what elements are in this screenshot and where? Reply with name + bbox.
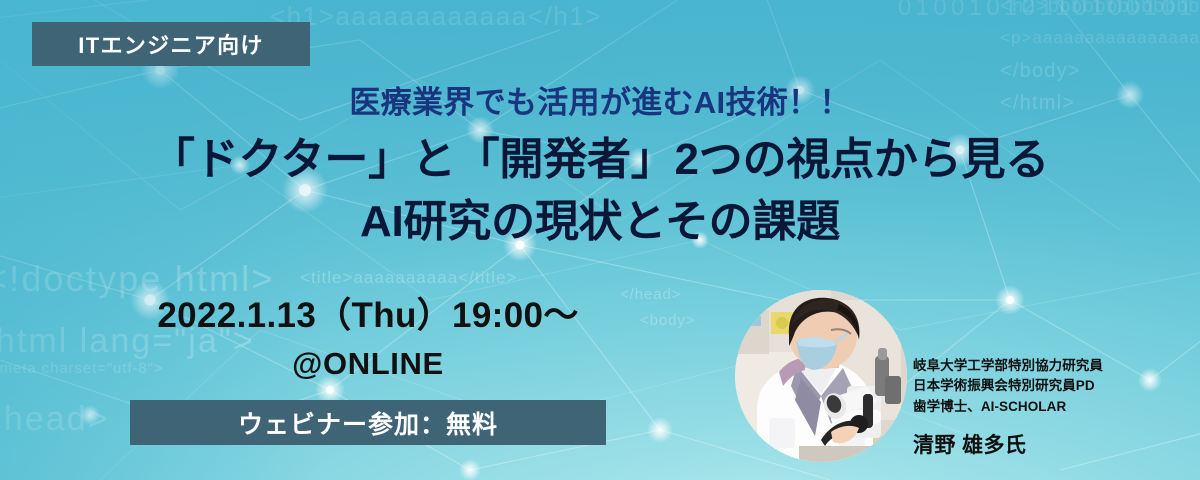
speaker-credential: 歯学博士、AI-SCHOLAR bbox=[913, 397, 1188, 417]
page-title-line-2: AI研究の現状とその課題 bbox=[0, 191, 1200, 253]
event-info-block: 2022.1.13（Thu）19:00〜 @ONLINE ウェビナー参加：無料 bbox=[130, 296, 606, 445]
code-line: </head> bbox=[620, 286, 681, 303]
code-line: <body> bbox=[640, 312, 695, 329]
speaker-avatar bbox=[735, 290, 907, 462]
category-badge-label: ITエンジニア向け bbox=[78, 28, 263, 60]
event-date: 2022.1.13（Thu）19:00〜 bbox=[130, 296, 606, 335]
microscope-researcher-photo bbox=[735, 290, 907, 462]
category-badge: ITエンジニア向け bbox=[32, 22, 310, 66]
speaker-info-block: 岐阜大学工学部特別協力研究員 日本学術振興会特別研究員PD 歯学博士、AI-SC… bbox=[913, 356, 1188, 459]
fee-badge-label: ウェビナー参加：無料 bbox=[238, 405, 498, 441]
speaker-credential: 日本学術振興会特別研究員PD bbox=[913, 376, 1188, 396]
speaker-name: 清野 雄多氏 bbox=[913, 429, 1188, 459]
code-line: <title>aaaaaaaaaa</title> bbox=[300, 268, 517, 288]
fee-badge: ウェビナー参加：無料 bbox=[130, 400, 606, 445]
speaker-credential: 岐阜大学工学部特別協力研究員 bbox=[913, 356, 1188, 376]
page-title-line-1: 「ドクター」と「開発者」2つの視点から見る bbox=[0, 129, 1200, 191]
event-location: @ONLINE bbox=[130, 347, 606, 381]
kicker-text: 医療業界でも活用が進むAI技術！！ bbox=[0, 84, 1200, 123]
webinar-banner: <!doctype html> <html lang="ja"> <meta c… bbox=[0, 0, 1200, 480]
headline-block: 医療業界でも活用が進むAI技術！！ 「ドクター」と「開発者」2つの視点から見る … bbox=[0, 84, 1200, 254]
